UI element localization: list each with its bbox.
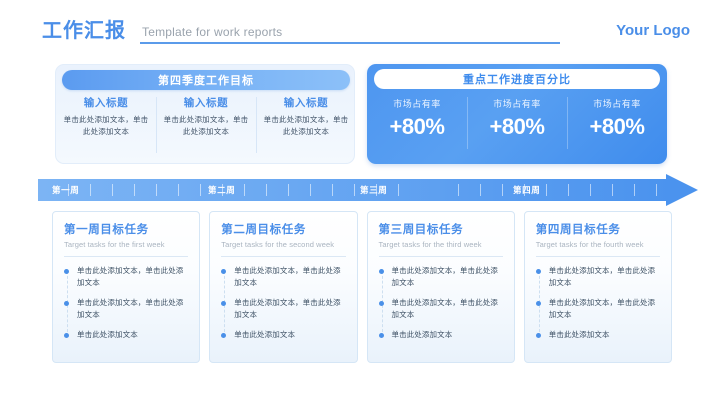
key-progress-title-pill: 重点工作进度百分比 [374,69,660,89]
bullet-dot-icon [379,269,384,274]
list-item[interactable]: 单击此处添加文本 [221,329,345,341]
logo-placeholder: Your Logo [616,20,690,42]
list-item-text: 单击此处添加文本，单击此处添加文本 [77,298,183,319]
list-item[interactable]: 单击此处添加文本 [64,329,188,341]
quarter-goal-title-pill: 第四季度工作目标 [62,70,350,90]
page-title: 工作汇报 [42,18,126,44]
metric-value: +80% [467,112,567,142]
list-item-text: 单击此处添加文本，单击此处添加文本 [392,298,498,319]
list-item[interactable]: 单击此处添加文本，单击此处添加文本 [536,265,660,288]
week-card-4[interactable]: 第四周目标任务 Target tasks for the fourth week… [524,211,672,363]
list-item[interactable]: 单击此处添加文本，单击此处添加文本 [379,297,503,320]
list-item-text: 单击此处添加文本，单击此处添加文本 [234,266,340,287]
list-item[interactable]: 单击此处添加文本 [536,329,660,341]
goal-column-body: 单击此处添加文本，单击此处添加文本 [262,114,350,137]
metric-label: 市场占有率 [467,97,567,112]
timeline-tick [656,184,657,196]
list-item[interactable]: 单击此处添加文本，单击此处添加文本 [379,265,503,288]
key-progress-metrics: 市场占有率 +80% 市场占有率 +80% 市场占有率 +80% [367,93,667,159]
timeline-week-label-3[interactable]: 第三周 [360,183,387,197]
timeline-tick [112,184,113,196]
list-item-text: 单击此处添加文本，单击此处添加文本 [234,298,340,319]
bullet-dot-icon [536,269,541,274]
list-item-text: 单击此处添加文本，单击此处添加文本 [549,266,655,287]
week-card-title: 第三周目标任务 [379,222,503,238]
list-item-text: 单击此处添加文本 [392,330,453,339]
week-card-title: 第一周目标任务 [64,222,188,238]
bullet-dot-icon [536,301,541,306]
timeline-tick [634,184,635,196]
timeline-tick [502,184,503,196]
quarter-goal-columns: 输入标题 单击此处添加文本，单击此处添加文本 输入标题 单击此处添加文本，单击此… [56,93,356,163]
timeline-tick [156,184,157,196]
list-item[interactable]: 单击此处添加文本，单击此处添加文本 [64,297,188,320]
metric-value: +80% [367,112,467,142]
list-item[interactable]: 单击此处添加文本，单击此处添加文本 [221,297,345,320]
goal-column[interactable]: 输入标题 单击此处添加文本，单击此处添加文本 [56,93,156,163]
week-card-subtitle: Target tasks for the fourth week [536,239,660,251]
timeline-tick [398,184,399,196]
quarter-goal-title: 第四季度工作目标 [158,72,254,88]
metric-item[interactable]: 市场占有率 +80% [567,93,667,159]
timeline-tick [568,184,569,196]
week-card-title: 第四周目标任务 [536,222,660,238]
timeline-week-label-1[interactable]: 第一周 [52,183,79,197]
goal-column-title: 输入标题 [62,95,150,111]
metric-value: +80% [567,112,667,142]
timeline-ticks [38,179,668,201]
bullet-dot-icon [221,301,226,306]
week-card-subtitle: Target tasks for the first week [64,239,188,251]
arrow-head-icon [666,174,698,206]
timeline-tick [612,184,613,196]
timeline-tick [288,184,289,196]
week-card-task-list: 单击此处添加文本，单击此处添加文本 单击此处添加文本，单击此处添加文本 单击此处… [379,265,503,341]
goal-column[interactable]: 输入标题 单击此处添加文本，单击此处添加文本 [256,93,356,163]
header-divider [140,42,560,44]
metric-label: 市场占有率 [567,97,667,112]
timeline-week-label-2[interactable]: 第二周 [208,183,235,197]
bullet-dot-icon [221,269,226,274]
list-item[interactable]: 单击此处添加文本，单击此处添加文本 [64,265,188,288]
bullet-dot-icon [64,269,69,274]
timeline-arrow: 第一周 第二周 第三周 第四周 [38,179,698,201]
metric-item[interactable]: 市场占有率 +80% [367,93,467,159]
week-card-divider [379,256,503,257]
bullet-dot-icon [64,301,69,306]
timeline-tick [590,184,591,196]
goal-column[interactable]: 输入标题 单击此处添加文本，单击此处添加文本 [156,93,256,163]
week-card-title: 第二周目标任务 [221,222,345,238]
goal-column-title: 输入标题 [262,95,350,111]
bullet-dot-icon [379,301,384,306]
week-card-divider [536,256,660,257]
list-item-text: 单击此处添加文本，单击此处添加文本 [549,298,655,319]
timeline-tick [546,184,547,196]
list-item-text: 单击此处添加文本，单击此处添加文本 [392,266,498,287]
week-card-divider [64,256,188,257]
timeline-tick [310,184,311,196]
key-progress-title: 重点工作进度百分比 [463,71,571,87]
goal-column-body: 单击此处添加文本，单击此处添加文本 [62,114,150,137]
slide-header: 工作汇报 Template for work reports Your Logo [0,18,720,52]
list-item[interactable]: 单击此处添加文本，单击此处添加文本 [536,297,660,320]
goal-column-body: 单击此处添加文本，单击此处添加文本 [162,114,250,137]
metric-item[interactable]: 市场占有率 +80% [467,93,567,159]
metric-label: 市场占有率 [367,97,467,112]
list-item-text: 单击此处添加文本 [549,330,610,339]
list-item[interactable]: 单击此处添加文本，单击此处添加文本 [221,265,345,288]
bullet-dot-icon [221,333,226,338]
timeline-tick [458,184,459,196]
goal-column-title: 输入标题 [162,95,250,111]
timeline-tick [244,184,245,196]
bullet-dot-icon [536,333,541,338]
quarter-goal-card: 第四季度工作目标 输入标题 单击此处添加文本，单击此处添加文本 输入标题 单击此… [55,64,355,164]
timeline-tick [354,184,355,196]
week-cards-row: 第一周目标任务 Target tasks for the first week … [52,211,672,363]
bullet-dot-icon [379,333,384,338]
list-item-text: 单击此处添加文本，单击此处添加文本 [77,266,183,287]
list-item[interactable]: 单击此处添加文本 [379,329,503,341]
week-card-1[interactable]: 第一周目标任务 Target tasks for the first week … [52,211,200,363]
week-card-2[interactable]: 第二周目标任务 Target tasks for the second week… [209,211,357,363]
week-card-divider [221,256,345,257]
slide-canvas: 工作汇报 Template for work reports Your Logo… [0,0,720,405]
timeline-tick [200,184,201,196]
list-item-text: 单击此处添加文本 [77,330,138,339]
timeline-tick [134,184,135,196]
timeline-week-label-4[interactable]: 第四周 [513,183,540,197]
week-card-task-list: 单击此处添加文本，单击此处添加文本 单击此处添加文本，单击此处添加文本 单击此处… [64,265,188,341]
timeline-tick [266,184,267,196]
timeline-tick [90,184,91,196]
page-subtitle: Template for work reports [142,23,282,41]
week-card-subtitle: Target tasks for the third week [379,239,503,251]
timeline-tick [178,184,179,196]
key-progress-card: 重点工作进度百分比 市场占有率 +80% 市场占有率 +80% 市场占有率 +8… [367,64,667,164]
list-item-text: 单击此处添加文本 [234,330,295,339]
timeline-tick [332,184,333,196]
week-card-subtitle: Target tasks for the second week [221,239,345,251]
timeline-tick [480,184,481,196]
week-card-task-list: 单击此处添加文本，单击此处添加文本 单击此处添加文本，单击此处添加文本 单击此处… [536,265,660,341]
week-card-task-list: 单击此处添加文本，单击此处添加文本 单击此处添加文本，单击此处添加文本 单击此处… [221,265,345,341]
week-card-3[interactable]: 第三周目标任务 Target tasks for the third week … [367,211,515,363]
bullet-dot-icon [64,333,69,338]
